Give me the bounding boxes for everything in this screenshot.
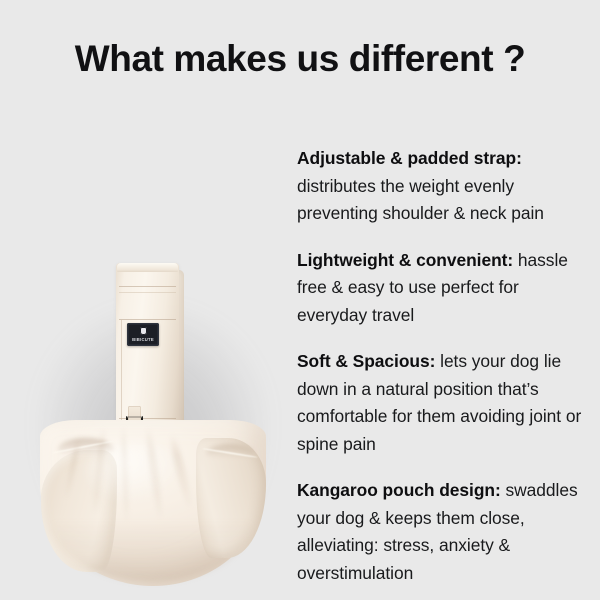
brand-logo-icon [140,327,147,335]
feature-paragraph: Kangaroo pouch design: swaddles your dog… [297,477,593,587]
strap-seam [119,292,176,293]
strap-side-seam [121,320,122,420]
feature-paragraph: Lightweight & convenient: hassle free & … [297,247,593,330]
brand-label-text: BIBICUTE [127,337,159,342]
feature-item-adjustable-padded-strap: Adjustable & padded strap: distributes t… [297,145,593,228]
promo-graphic: What makes us different ? BIBICUTE [0,0,600,600]
feature-item-soft-spacious: Soft & Spacious: lets your dog lie down … [297,348,593,458]
strap-seam [119,319,176,320]
strap-top-fold [117,263,178,272]
feature-item-lightweight-convenient: Lightweight & convenient: hassle free & … [297,247,593,330]
pouch-highlight [86,442,182,502]
feature-list: Adjustable & padded strap: distributes t… [297,128,593,600]
feature-title: Lightweight & convenient: [297,250,513,270]
feature-paragraph: Soft & Spacious: lets your dog lie down … [297,348,593,458]
product-image-pet-sling-carrier: BIBICUTE [0,120,300,490]
pouch-bottom-shading [52,520,252,582]
feature-paragraph: Adjustable & padded strap: distributes t… [297,145,593,228]
feature-item-kangaroo-pouch-design: Kangaroo pouch design: swaddles your dog… [297,477,593,587]
shoulder-strap [116,263,179,435]
feature-title: Soft & Spacious: [297,351,435,371]
feature-title: Kangaroo pouch design: [297,480,501,500]
page-title: What makes us different ? [0,36,600,82]
feature-title: Adjustable & padded strap: [297,148,522,168]
strap-seam [119,286,176,287]
feature-body: distributes the weight evenly preventing… [297,176,544,224]
brand-label-patch: BIBICUTE [127,323,159,346]
